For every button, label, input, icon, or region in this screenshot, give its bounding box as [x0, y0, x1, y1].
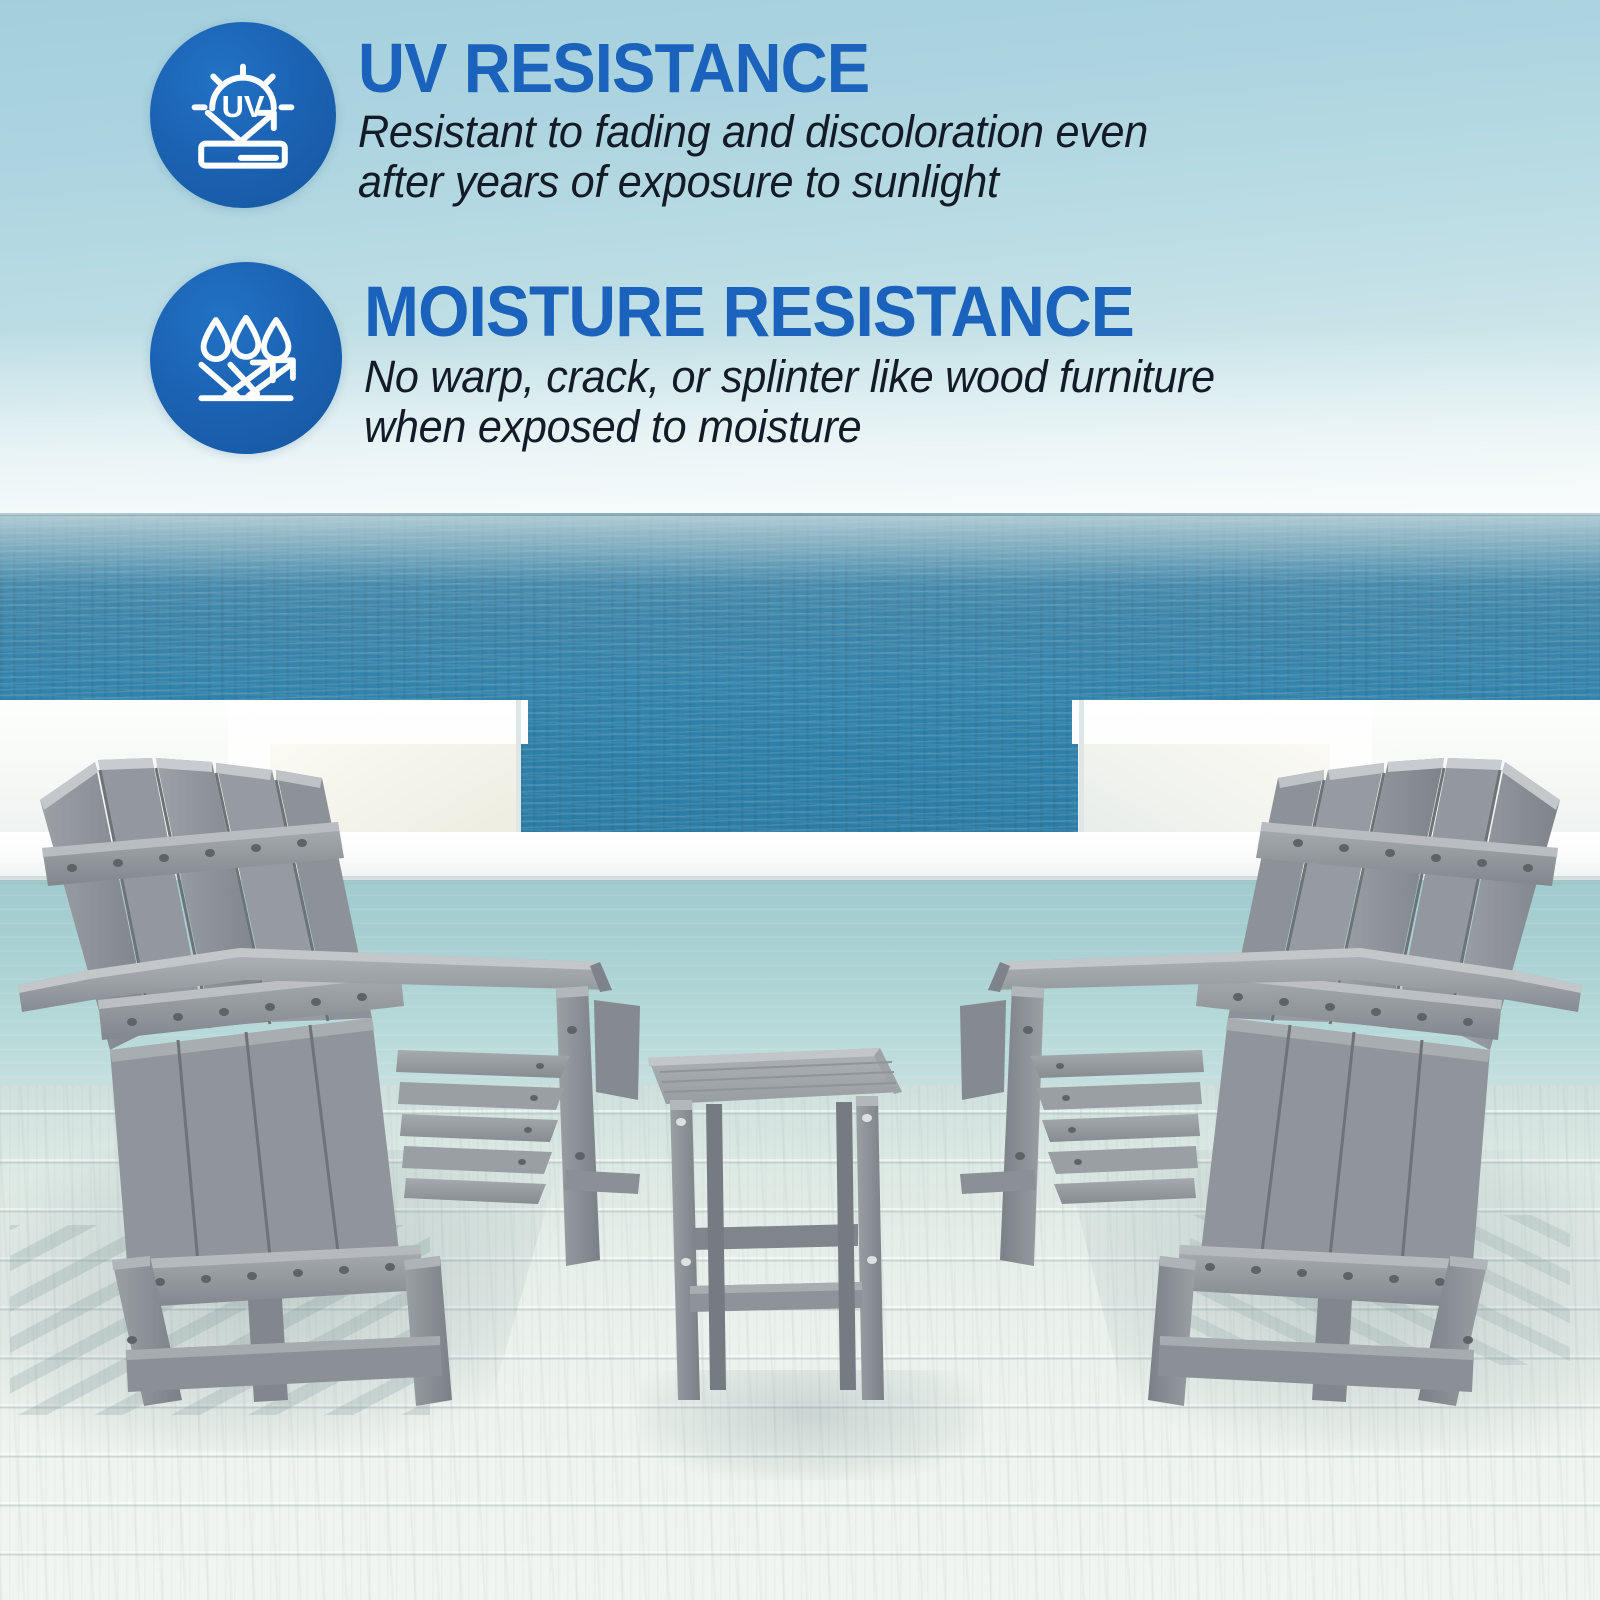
feature-uv-text: UV RESISTANCE Resistant to fading and di…: [358, 22, 1181, 207]
svg-text:UV: UV: [222, 89, 265, 124]
feature-moisture-body: No warp, crack, or splinter like wood fu…: [364, 352, 1215, 453]
side-table-center: [648, 1048, 902, 1400]
marketing-image: UV UV RESISTANCE Resistant to fading and…: [0, 0, 1600, 1600]
ocean-shimmer: [0, 515, 1600, 585]
furniture-group: [0, 700, 1600, 1600]
feature-moisture-resistance: MOISTURE RESISTANCE No warp, crack, or s…: [150, 262, 1250, 454]
moisture-droplets-deflect-icon: [150, 262, 342, 454]
feature-uv-heading: UV RESISTANCE: [358, 34, 1123, 103]
feature-moisture-body-line-2: when exposed to moisture: [364, 402, 1215, 452]
feature-uv-body-line-1: Resistant to fading and discoloration ev…: [358, 107, 1148, 157]
feature-uv-body: Resistant to fading and discoloration ev…: [358, 107, 1148, 208]
adirondack-chair-right: [960, 758, 1582, 1406]
feature-uv-resistance: UV UV RESISTANCE Resistant to fading and…: [150, 22, 1181, 208]
left-chair-seat: [396, 1050, 570, 1204]
right-chair-seat: [1030, 1050, 1204, 1204]
feature-moisture-body-line-1: No warp, crack, or splinter like wood fu…: [364, 352, 1215, 402]
feature-moisture-heading: MOISTURE RESISTANCE: [364, 278, 1188, 348]
feature-moisture-text: MOISTURE RESISTANCE No warp, crack, or s…: [364, 262, 1250, 452]
horizon-line: [0, 513, 1600, 516]
feature-uv-body-line-2: after years of exposure to sunlight: [358, 157, 1148, 207]
adirondack-chair-left: [18, 758, 640, 1406]
uv-sun-board-icon: UV: [150, 22, 336, 208]
